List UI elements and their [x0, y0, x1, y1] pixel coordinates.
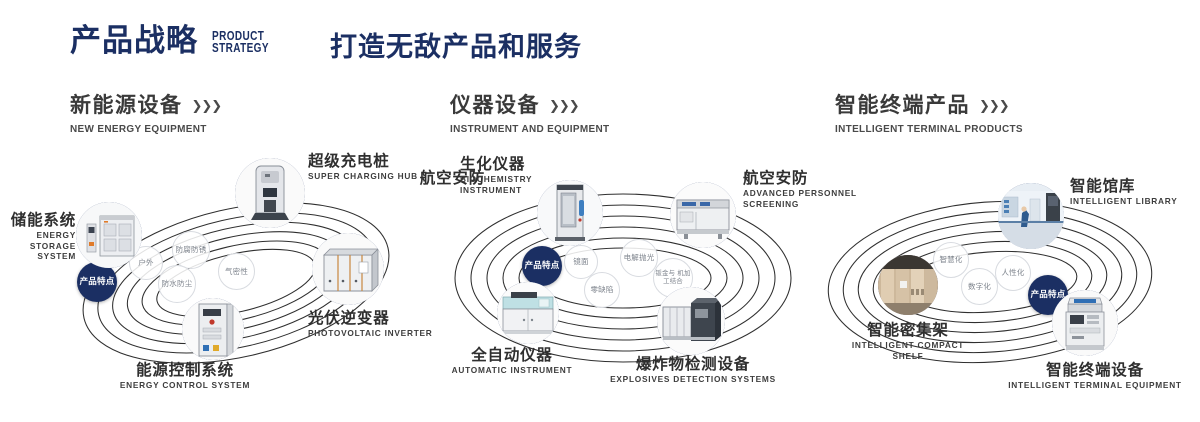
label-energy-control: 能源控制系统 ENERGY CONTROL SYSTEM [85, 362, 285, 391]
feature-bubble: 气密性 [218, 253, 255, 290]
poster-canvas: 产品战略 PRODUCT STRATEGY 打造无敌产品和服务 新能源设备 ❯❯… [0, 0, 1200, 422]
chevron-right-icon: ❯❯❯ [192, 98, 222, 114]
node-label-cn: 全自动仪器 [412, 347, 612, 363]
section-title-intelligent-terminal: 智能终端产品 ❯❯❯ INTELLIGENT TERMINAL PRODUCTS [835, 95, 1033, 135]
node-label-cn: 智能密集架 [808, 322, 1008, 338]
automatic-analyzer-icon [497, 282, 559, 344]
node-label-en: INTELLIGENT COMPACT SHELF [808, 340, 1008, 361]
node-label-en: ENERGY STORAGE SYSTEM [0, 230, 76, 261]
node-label-en: EXPLOSIVES DETECTION SYSTEMS [588, 374, 798, 384]
node-energy-control[interactable] [182, 298, 244, 360]
chevron-right-icon: ❯❯❯ [549, 98, 579, 114]
cluster-new-energy: 防腐防锈 户外 气密性 防水防尘 产品特点 储能系统 ENERGY STOR [40, 150, 440, 410]
node-intelligent-library[interactable] [998, 183, 1064, 249]
feature-bubble: 人性化 [995, 255, 1031, 291]
chevron-right-icon: ❯❯❯ [979, 98, 1009, 114]
control-cabinet-icon [182, 298, 244, 360]
node-energy-storage[interactable] [76, 202, 142, 268]
node-label-en: BIOCHEMISTRY INSTRUMENT [460, 174, 580, 195]
section-title-new-energy: 新能源设备 ❯❯❯ NEW ENERGY EQUIPMENT [70, 95, 221, 135]
feature-bubble: 智慧化 [933, 242, 969, 278]
node-pv-inverter[interactable] [312, 233, 384, 305]
label-intelligent-terminal-equipment: 智能终端设备 INTELLIGENT TERMINAL EQUIPMENT [980, 362, 1200, 391]
node-label-cn: 爆炸物检测设备 [588, 356, 798, 372]
feature-bubble: 数字化 [961, 268, 998, 305]
section-title-en: NEW ENERGY EQUIPMENT [70, 123, 214, 135]
cluster-intelligent-terminal: 智慧化 数字化 人性化 产品特点 智能馆库 IN [800, 150, 1200, 410]
node-charging-pile[interactable] [235, 158, 305, 228]
smart-library-room-icon [998, 183, 1064, 249]
page-slogan: 打造无敌产品和服务 [330, 34, 582, 61]
label-energy-storage: 储能系统 ENERGY STORAGE SYSTEM [0, 212, 76, 261]
personnel-screening-machine-icon [670, 182, 736, 248]
page-title-en: PRODUCT STRATEGY [212, 30, 269, 58]
section-title-en: INTELLIGENT TERMINAL PRODUCTS [835, 123, 1023, 135]
label-explosives-detection: 爆炸物检测设备 EXPLOSIVES DETECTION SYSTEMS [588, 356, 798, 385]
node-label-en: INTELLIGENT LIBRARY [1070, 196, 1200, 206]
self-service-kiosk-icon [1052, 290, 1118, 356]
label-intelligent-compact-shelf: 智能密集架 INTELLIGENT COMPACT SHELF [808, 322, 1008, 361]
feature-core-bubble: 产品特点 [522, 246, 562, 286]
feature-bubble: 电解抛光 [620, 239, 658, 277]
explosives-detector-icon [657, 287, 725, 355]
section-title-cn: 新能源设备 [70, 95, 183, 116]
node-label-cn: 生化仪器 [460, 156, 580, 172]
page-title: 产品战略 PRODUCT STRATEGY [70, 26, 283, 57]
node-explosives-detection[interactable] [657, 287, 725, 355]
cluster-instrument: 镜面 电解抛光 零缺陷 钣金与 机加工结合 产品特点 航空安防 生化仪器 [425, 150, 825, 410]
node-personnel-screening[interactable] [670, 182, 736, 248]
label-biochemistry-instrument: 生化仪器 BIOCHEMISTRY INSTRUMENT [460, 156, 580, 195]
energy-storage-cabinet-icon [76, 202, 142, 268]
node-label-en: AUTOMATIC INSTRUMENT [412, 365, 612, 375]
node-label-cn: 智能馆库 [1070, 178, 1200, 194]
section-title-cn: 仪器设备 [450, 95, 540, 116]
page-title-cn: 产品战略 [70, 26, 198, 57]
compact-shelf-icon [878, 255, 938, 315]
feature-core-bubble: 产品特点 [77, 262, 117, 302]
label-automatic-instrument: 全自动仪器 AUTOMATIC INSTRUMENT [412, 347, 612, 376]
node-label-en: INTELLIGENT TERMINAL EQUIPMENT [980, 380, 1200, 390]
node-label-cn: 储能系统 [0, 212, 76, 228]
section-title-en: INSTRUMENT AND EQUIPMENT [450, 123, 609, 135]
node-label-cn: 能源控制系统 [85, 362, 285, 378]
node-intelligent-compact-shelf[interactable] [878, 255, 938, 315]
node-automatic-instrument[interactable] [497, 282, 559, 344]
feature-bubble: 防腐防锈 [172, 231, 210, 269]
section-title-cn: 智能终端产品 [835, 95, 970, 116]
section-title-instrument: 仪器设备 ❯❯❯ INSTRUMENT AND EQUIPMENT [450, 95, 618, 135]
label-intelligent-library: 智能馆库 INTELLIGENT LIBRARY [1070, 178, 1200, 207]
charging-pile-icon [235, 158, 305, 228]
node-intelligent-terminal-equipment[interactable] [1052, 290, 1118, 356]
feature-bubble: 零缺陷 [584, 272, 620, 308]
node-label-cn: 智能终端设备 [980, 362, 1200, 378]
pv-inverter-cabinet-icon [312, 233, 384, 305]
node-label-en: ENERGY CONTROL SYSTEM [85, 380, 285, 390]
